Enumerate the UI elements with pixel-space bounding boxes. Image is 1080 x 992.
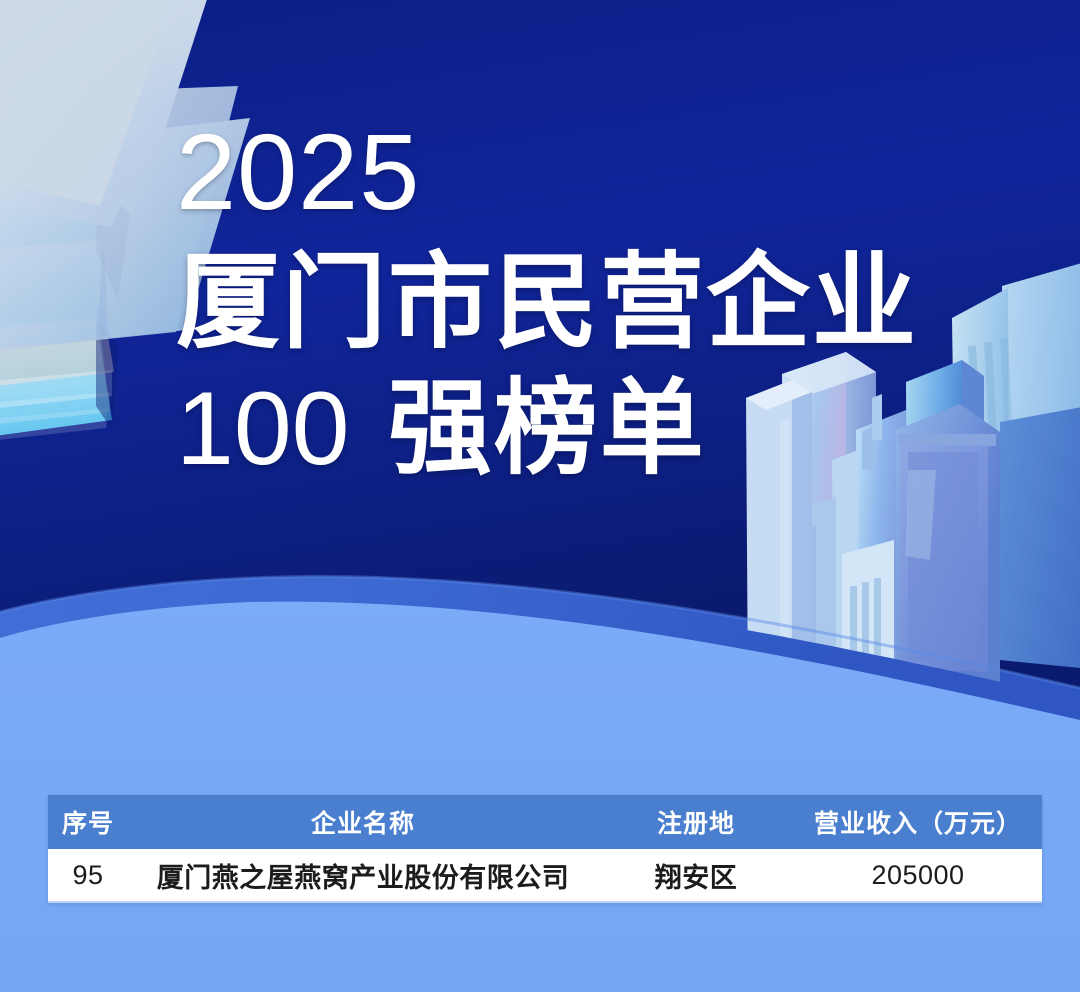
ranking-table: 序号 企业名称 注册地 营业收入（万元） 95 厦门燕之屋燕窝产业股份有限公司 … [48, 795, 1042, 903]
table-header: 序号 企业名称 注册地 营业收入（万元） [48, 795, 1042, 849]
cell-region: 翔安区 [598, 849, 794, 902]
poster-root: 2025 厦门市民营企业 100 强榜单 序号 企业名称 注册地 营业收入（万元… [0, 0, 1080, 992]
column-header-revenue: 营业收入（万元） [794, 795, 1042, 849]
table-header-row: 序号 企业名称 注册地 营业收入（万元） [48, 795, 1042, 849]
column-header-rank: 序号 [48, 795, 128, 849]
cell-company-name: 厦门燕之屋燕窝产业股份有限公司 [128, 849, 598, 902]
table-body: 95 厦门燕之屋燕窝产业股份有限公司 翔安区 205000 [48, 849, 1042, 902]
column-header-company-name: 企业名称 [128, 795, 598, 849]
column-header-region: 注册地 [598, 795, 794, 849]
table-row: 95 厦门燕之屋燕窝产业股份有限公司 翔安区 205000 [48, 849, 1042, 902]
cell-revenue: 205000 [794, 849, 1042, 902]
cell-rank: 95 [48, 849, 128, 902]
